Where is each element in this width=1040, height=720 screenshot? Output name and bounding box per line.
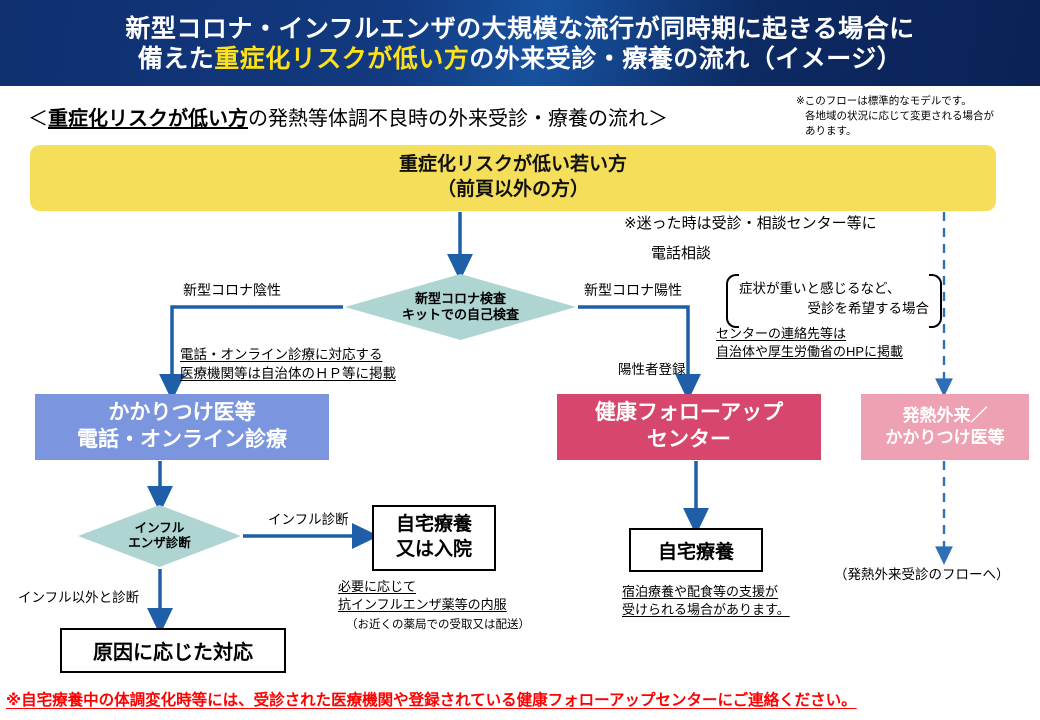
node-follow-up-center-line-1: 健康フォローアップ	[595, 400, 783, 427]
annotation-center-contact: センターの連絡先等は 自治体や厚生労働省のHPに掲載	[716, 325, 903, 362]
node-fever-clinic-line-1: 発熱外来／	[903, 405, 988, 427]
page-header: 新型コロナ・インフルエンザの大規模な流行が同時期に起きる場合に 備えた重症化リス…	[0, 0, 1040, 86]
node-start-line-1: 重症化リスクが低い若い方	[399, 153, 627, 178]
top-note-line-1: ※このフローは標準的なモデルです。	[796, 95, 972, 107]
annotation-consult-line-2: 電話相談	[651, 243, 711, 264]
node-covid-test-diamond[interactable]: 新型コロナ検査 キットでの自己検査	[345, 274, 576, 340]
node-follow-up-center-line-2: センター	[647, 427, 731, 454]
header-line-2-accent: 重症化リスクが低い方	[214, 45, 469, 73]
edge-label-covid-negative: 新型コロナ陰性	[183, 281, 281, 301]
node-family-doctor-line-1: かかりつけ医等	[108, 400, 255, 427]
node-home-or-hospital-line-2: 又は入院	[396, 538, 472, 563]
bottom-warning-banner: ※自宅療養中の体調変化時等には、受診された医療機関や登録されている健康フォローア…	[6, 688, 1036, 710]
node-start[interactable]: 重症化リスクが低い若い方 （前頁以外の方）	[30, 145, 996, 211]
edge-label-covid-positive: 新型コロナ陽性	[584, 281, 682, 301]
annotation-center-contact-line-2: 自治体や厚生労働省のHPに掲載	[716, 344, 903, 359]
bracket-note-line-1: 症状が重いと感じるなど、	[739, 279, 929, 299]
top-right-note: ※このフローは標準的なモデルです。 各地域の状況に応じて変更される場合が ありま…	[796, 94, 1028, 140]
annotation-consult-line-1: ※迷った時は受診・相談センター等に	[624, 213, 877, 234]
top-note-line-3: あります。	[796, 124, 1028, 139]
header-line-1: 新型コロナ・インフルエンザの大規模な流行が同時期に起きる場合に	[125, 14, 914, 45]
node-family-doctor-line-2: 電話・オンライン診療	[77, 427, 287, 454]
subtitle: ＜重症化リスクが低い方の発熱等体調不良時の外来受診・療養の流れ＞	[28, 102, 668, 131]
node-home-care[interactable]: 自宅療養	[629, 528, 763, 572]
node-cause-response-line-1: 原因に応じた対応	[93, 636, 253, 665]
subtitle-rest: の発熱等体調不良時の外来受診・療養の流れ＞	[248, 108, 668, 130]
node-family-doctor[interactable]: かかりつけ医等 電話・オンライン診療	[35, 394, 329, 460]
annotation-online-care-line-2: 医療機関等は自治体のＨＰ等に掲載	[180, 366, 396, 381]
annotation-antiviral-medicine: 必要に応じて 抗インフルエンザ薬等の内服 （お近くの薬局での受取又は配送）	[338, 578, 530, 633]
edge-label-positive-registration: 陽性者登録	[618, 360, 686, 379]
annotation-home-care-line-2: 受けられる場合があります。	[622, 602, 790, 617]
annotation-antiviral-line-2: 抗インフルエンザ薬等の内服	[338, 597, 507, 612]
header-line-2: 備えた重症化リスクが低い方の外来受診・療養の流れ（イメージ）	[138, 44, 903, 75]
annotation-center-contact-line-1: センターの連絡先等は	[716, 326, 846, 341]
flowchart-page: 新型コロナ・インフルエンザの大規模な流行が同時期に起きる場合に 備えた重症化リス…	[0, 0, 1040, 720]
annotation-online-care-line-1: 電話・オンライン診療に対応する	[180, 347, 383, 362]
node-home-or-hospital-line-1: 自宅療養	[396, 513, 472, 538]
annotation-severe-symptoms-bracket: 症状が重いと感じるなど、 受診を希望する場合	[726, 274, 942, 324]
annotation-online-care: 電話・オンライン診療に対応する 医療機関等は自治体のＨＰ等に掲載	[180, 345, 396, 383]
node-home-or-hospital[interactable]: 自宅療養 又は入院	[372, 505, 496, 571]
subtitle-underlined: 重症化リスクが低い方	[48, 108, 248, 130]
bracket-right	[929, 274, 942, 328]
node-follow-up-center[interactable]: 健康フォローアップ センター	[557, 394, 821, 460]
node-fever-clinic-line-2: かかりつけ医等	[885, 427, 1004, 449]
annotation-antiviral-line-3: （お近くの薬局での受取又は配送）	[338, 617, 530, 633]
bracket-note-line-2: 受診を希望する場合	[739, 299, 929, 319]
edge-label-non-influenza: インフル以外と診断	[18, 588, 139, 607]
header-line-2-post: の外来受診・療養の流れ（イメージ）	[469, 45, 902, 73]
node-home-care-line-1: 自宅療養	[658, 537, 734, 564]
node-start-line-2: （前頁以外の方）	[437, 178, 589, 203]
influenza-diamond-shape	[78, 505, 241, 567]
annotation-home-care-support: 宿泊療養や配食等の支援が 受けられる場合があります。	[622, 583, 790, 620]
node-fever-clinic[interactable]: 発熱外来／ かかりつけ医等	[861, 394, 1029, 460]
annotation-fever-clinic-flow-link: （発熱外来受診のフローへ）	[834, 565, 1010, 584]
subtitle-open: ＜	[28, 108, 48, 130]
bracket-left	[726, 274, 739, 328]
node-cause-response[interactable]: 原因に応じた対応	[60, 628, 286, 673]
edge-label-influenza-diagnosed: インフル診断	[268, 510, 349, 529]
top-note-line-2: 各地域の状況に応じて変更される場合が	[796, 109, 1028, 124]
covid-test-diamond-shape	[345, 274, 576, 340]
header-line-2-pre: 備えた	[138, 45, 215, 73]
annotation-home-care-line-1: 宿泊療養や配食等の支援が	[622, 584, 778, 599]
annotation-antiviral-line-1: 必要に応じて	[338, 579, 416, 594]
node-influenza-diagnosis-diamond[interactable]: インフル エンザ診断	[78, 505, 241, 567]
